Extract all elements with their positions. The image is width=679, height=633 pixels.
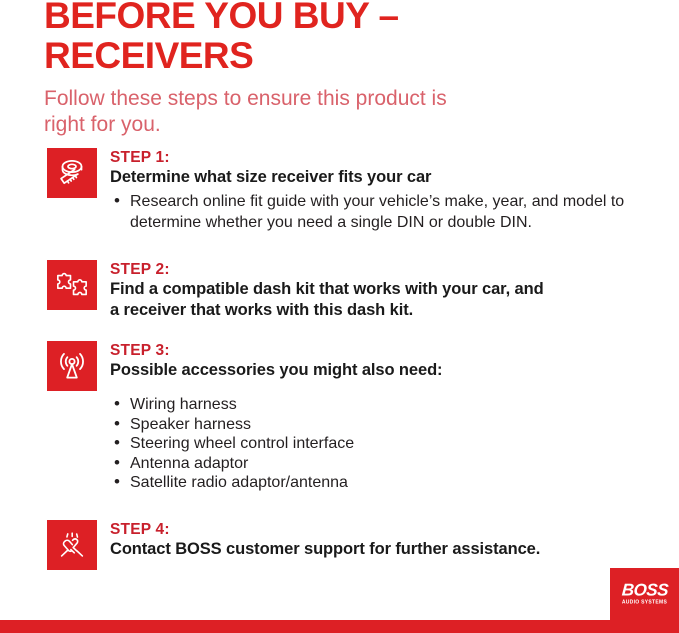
- measuring-tape-icon: [47, 148, 97, 198]
- handshake-icon: [47, 520, 97, 570]
- step-1-label: STEP 1:: [110, 148, 667, 167]
- boss-logo-wordmark: BOSS: [621, 582, 668, 599]
- step-2-body: STEP 2: Find a compatible dash kit that …: [110, 260, 679, 321]
- step-item-2: STEP 2: Find a compatible dash kit that …: [0, 260, 679, 321]
- step-item-1: STEP 1: Determine what size receiver fit…: [0, 148, 679, 233]
- list-item: Research online fit guide with your vehi…: [110, 192, 667, 233]
- infographic-page: BEFORE YOU BUY – RECEIVERS Follow these …: [0, 0, 679, 633]
- list-item: Speaker harness: [110, 415, 667, 435]
- page-subtitle: Follow these steps to ensure this produc…: [44, 86, 644, 138]
- list-item: Satellite radio adaptor/antenna: [110, 473, 667, 493]
- page-title: BEFORE YOU BUY – RECEIVERS: [44, 0, 644, 76]
- boss-logo: BOSS AUDIO SYSTEMS: [621, 582, 667, 607]
- step-3-heading: Possible accessories you might also need…: [110, 360, 667, 381]
- step-1-heading: Determine what size receiver fits your c…: [110, 167, 667, 188]
- bottom-accent-bar: [0, 620, 679, 633]
- step-1-body: STEP 1: Determine what size receiver fit…: [110, 148, 679, 233]
- step-3-bullets: Wiring harness Speaker harness Steering …: [110, 395, 667, 493]
- boss-logo-tagline: AUDIO SYSTEMS: [621, 600, 667, 607]
- step-4-heading: Contact BOSS customer support for furthe…: [110, 539, 667, 560]
- antenna-signal-icon: [47, 341, 97, 391]
- step-1-bullets: Research online fit guide with your vehi…: [110, 192, 667, 233]
- step-3-body: STEP 3: Possible accessories you might a…: [110, 341, 679, 493]
- list-item: Wiring harness: [110, 395, 667, 415]
- step-4-label: STEP 4:: [110, 520, 667, 539]
- step-2-label: STEP 2:: [110, 260, 667, 279]
- list-item: Steering wheel control interface: [110, 434, 667, 454]
- list-item: Antenna adaptor: [110, 454, 667, 474]
- boss-logo-block: BOSS AUDIO SYSTEMS: [610, 568, 679, 620]
- header: BEFORE YOU BUY – RECEIVERS Follow these …: [44, 0, 644, 138]
- puzzle-pieces-icon: [47, 260, 97, 310]
- step-2-heading: Find a compatible dash kit that works wi…: [110, 279, 667, 321]
- step-4-body: STEP 4: Contact BOSS customer support fo…: [110, 520, 679, 560]
- step-item-3: STEP 3: Possible accessories you might a…: [0, 341, 679, 493]
- step-3-label: STEP 3:: [110, 341, 667, 360]
- step-item-4: STEP 4: Contact BOSS customer support fo…: [0, 520, 679, 560]
